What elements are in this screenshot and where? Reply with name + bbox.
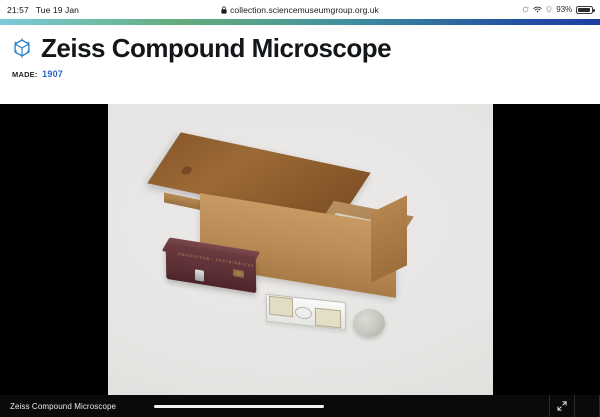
status-bar-right: 93% [522, 5, 593, 14]
scrollbar-thumb[interactable] [154, 405, 324, 408]
address-bar-url: collection.sciencemuseumgroup.org.uk [230, 5, 379, 15]
address-bar[interactable]: collection.sciencemuseumgroup.org.uk [221, 5, 379, 15]
title-row: Zeiss Compound Microscope [12, 35, 588, 62]
battery-icon [576, 6, 593, 14]
case-clasp [195, 269, 204, 282]
status-bar-left: 21:57 Tue 19 Jan [7, 5, 79, 15]
wifi-icon [533, 6, 542, 13]
status-bar-center: collection.sciencemuseumgroup.org.uk [0, 0, 600, 19]
thumbnail-scrollbar[interactable] [0, 405, 600, 408]
ipad-status-bar: 21:57 Tue 19 Jan collection.sciencemuseu… [0, 0, 600, 19]
page-title: Zeiss Compound Microscope [41, 35, 391, 62]
made-value-link[interactable]: 1907 [42, 69, 63, 79]
scrollbar-track[interactable] [130, 405, 470, 408]
battery-percent-label: 93% [556, 5, 572, 14]
viewer-bottom-toolbar: Zeiss Compound Microscope [0, 395, 600, 417]
location-icon [546, 6, 552, 13]
slide-label-left [268, 296, 292, 318]
status-bar-time: 21:57 [7, 5, 29, 15]
image-viewer[interactable]: OBJEKTIVOR - ZENTRIERGLAS [0, 104, 600, 395]
page-header: Zeiss Compound Microscope MADE: 1907 [0, 25, 600, 79]
sync-icon [522, 6, 529, 13]
cube-icon [12, 38, 32, 60]
made-date-row: MADE: 1907 [12, 69, 588, 79]
lock-icon [221, 6, 227, 14]
made-label: MADE: [12, 70, 38, 79]
slide-label-right [314, 308, 340, 329]
object-photograph[interactable]: OBJEKTIVOR - ZENTRIERGLAS [108, 104, 493, 395]
status-bar-date: Tue 19 Jan [36, 5, 79, 15]
